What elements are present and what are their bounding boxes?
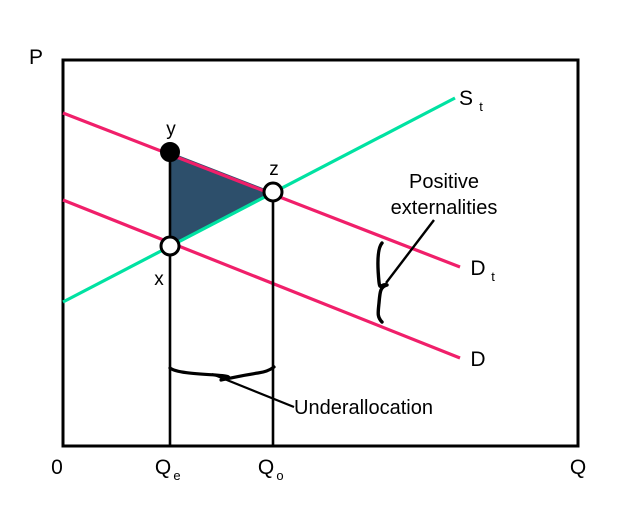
tick-label-qe-sub: e [173, 468, 180, 483]
curve-label-supply-base: S [459, 87, 473, 110]
plot-frame [63, 60, 578, 446]
tick-label-qe: Q e [155, 456, 181, 483]
underallocation-leader-line [212, 374, 294, 407]
point-label-y: y [166, 119, 176, 140]
curve-label-demand-total: D t [470, 257, 495, 284]
demand-private-curve [63, 200, 460, 358]
demand-total-curve [63, 113, 460, 267]
point-label-z: z [269, 159, 279, 180]
underallocation-label: Underallocation [294, 397, 433, 419]
positive-externalities-label-line2: externalities [391, 197, 498, 219]
curve-label-demand-total-base: D [470, 257, 485, 280]
point-z-marker[interactable] [264, 183, 282, 201]
curve-label-demand-total-sub: t [491, 269, 495, 284]
diagram-canvas: P Q 0 Q e Q o S t D t D y x z [0, 0, 640, 511]
point-y-marker[interactable] [161, 143, 179, 161]
curve-label-demand-private: D [470, 348, 485, 371]
tick-label-qe-base: Q [155, 456, 171, 479]
origin-label: 0 [51, 456, 63, 479]
point-x-marker[interactable] [161, 237, 179, 255]
tick-label-qo-sub: o [276, 468, 283, 483]
curve-label-supply-sub: t [479, 99, 483, 114]
tick-label-qo-base: Q [258, 456, 274, 479]
externalities-diagram: P Q 0 Q e Q o S t D t D y x z [0, 0, 640, 511]
positive-externalities-leader-line [386, 220, 434, 283]
y-axis-label: P [29, 46, 43, 69]
tick-label-qo: Q o [258, 456, 284, 483]
x-axis-label: Q [570, 456, 586, 479]
curve-label-supply: S t [459, 87, 483, 114]
point-label-x: x [154, 269, 164, 290]
positive-externalities-label-line1: Positive [409, 171, 479, 193]
